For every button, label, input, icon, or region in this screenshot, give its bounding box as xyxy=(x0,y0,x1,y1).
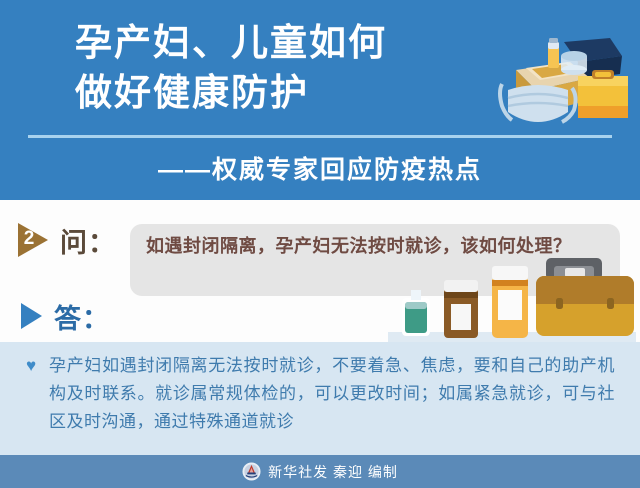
footer-credit: 新华社发 秦迎 编制 xyxy=(268,462,398,482)
question-number: 2 xyxy=(20,228,38,250)
header-banner: 孕产妇、儿童如何 做好健康防护 ——权威专家回应防疫热点 xyxy=(0,0,640,200)
page-title: 孕产妇、儿童如何 做好健康防护 xyxy=(75,18,495,118)
footer-bar: 新华社发 秦迎 编制 xyxy=(0,455,640,488)
title-line-1: 孕产妇、儿童如何 xyxy=(75,18,495,68)
answer-label-row: 答： xyxy=(18,298,110,334)
medical-kit-and-mask-illustration xyxy=(492,28,638,140)
triangle-right-icon-blue xyxy=(21,303,42,329)
question-number-marker: 2 xyxy=(18,223,52,257)
medicine-bottles-and-case-illustration xyxy=(388,236,636,342)
xinhua-logo-icon xyxy=(242,462,261,481)
question-label: 问： xyxy=(60,221,116,260)
heart-icon: ♥ xyxy=(26,358,42,373)
question-label-row: 2 问： xyxy=(18,222,116,258)
answer-text: 孕产妇如遇封闭隔离无法按时就诊，不要着急、焦虑，要和自己的助产机构及时联系。就诊… xyxy=(49,352,615,436)
infographic-poster: 孕产妇、儿童如何 做好健康防护 ——权威专家回应防疫热点 xyxy=(0,0,640,488)
header-subtitle: ——权威专家回应防疫热点 xyxy=(0,150,640,186)
title-line-2: 做好健康防护 xyxy=(75,68,495,118)
answer-label: 答： xyxy=(54,297,110,336)
